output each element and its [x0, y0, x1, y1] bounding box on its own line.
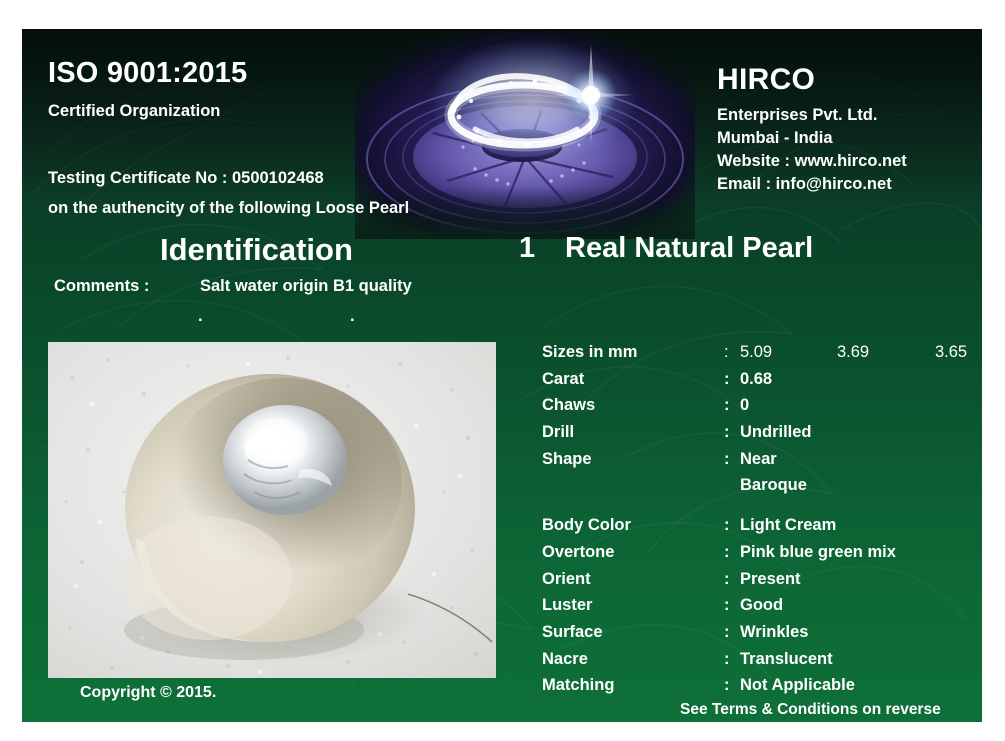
property-label: Orient	[542, 570, 591, 589]
table-row: Orient : Present	[542, 570, 972, 597]
table-row: Chaws : 0	[542, 396, 972, 423]
property-colon: :	[724, 570, 730, 589]
authenticity-statement: on the authencity of the following Loose…	[48, 199, 409, 218]
comments-label: Comments :	[54, 277, 149, 296]
certificate-card: ISO 9001:2015 Certified Organization Tes…	[22, 29, 982, 722]
table-row: Nacre : Translucent	[542, 650, 972, 677]
company-website[interactable]: Website : www.hirco.net	[717, 152, 907, 171]
property-value: Undrilled	[740, 423, 812, 442]
company-email[interactable]: Email : info@hirco.net	[717, 175, 892, 194]
property-label: Shape	[542, 450, 592, 469]
comments-marker-1: .	[198, 307, 203, 326]
property-value: Not Applicable	[740, 676, 855, 695]
property-colon: :	[724, 396, 730, 415]
property-colon: :	[724, 450, 730, 469]
table-row: Body Color : Light Cream	[542, 516, 972, 543]
property-value-continued: Baroque	[740, 476, 807, 495]
copyright-notice: Copyright © 2015.	[80, 684, 216, 702]
property-colon: :	[724, 516, 730, 535]
comments-value: Salt water origin B1 quality	[200, 277, 412, 296]
table-row: Sizes in mm : 5.09 3.69 3.65	[542, 343, 972, 370]
property-colon: :	[724, 650, 730, 669]
pearl-specimen-photo	[48, 342, 496, 678]
certificate-page: ISO 9001:2015 Certified Organization Tes…	[0, 0, 1005, 741]
property-label: Body Color	[542, 516, 631, 535]
table-row: Overtone : Pink blue green mix	[542, 543, 972, 570]
item-number: 1	[519, 232, 535, 265]
identification-heading: Identification	[160, 232, 353, 268]
property-value: Present	[740, 570, 801, 589]
certificate-number: Testing Certificate No : 0500102468	[48, 169, 324, 188]
table-row: Matching : Not Applicable	[542, 676, 972, 703]
property-value: 0	[740, 396, 749, 415]
property-value: Good	[740, 596, 783, 615]
table-row: Shape : Near Baroque	[542, 450, 972, 504]
property-colon: :	[724, 596, 730, 615]
table-row: Luster : Good	[542, 596, 972, 623]
property-value: Near	[740, 450, 777, 469]
property-label: Nacre	[542, 650, 588, 669]
property-value: Wrinkles	[740, 623, 808, 642]
comments-marker-2: .	[350, 307, 355, 326]
pearl-properties-table: Sizes in mm : 5.09 3.69 3.65 Carat : 0.6…	[542, 343, 972, 703]
property-label: Overtone	[542, 543, 614, 562]
property-label: Carat	[542, 370, 584, 389]
property-value: 5.09	[740, 343, 772, 362]
property-label: Drill	[542, 423, 574, 442]
property-colon: :	[724, 370, 730, 389]
property-label: Sizes in mm	[542, 343, 637, 362]
certified-organization-label: Certified Organization	[48, 102, 220, 121]
property-value: 0.68	[740, 370, 772, 389]
property-colon: :	[724, 343, 729, 362]
property-label: Luster	[542, 596, 592, 615]
company-name: HIRCO	[717, 63, 815, 97]
property-value: Translucent	[740, 650, 833, 669]
property-value: Pink blue green mix	[740, 543, 896, 562]
company-legal-suffix: Enterprises Pvt. Ltd.	[717, 106, 877, 125]
property-colon: :	[724, 623, 730, 642]
item-name: Real Natural Pearl	[565, 232, 813, 265]
table-spacer	[542, 503, 972, 516]
property-value-2: 3.69	[837, 343, 869, 362]
property-colon: :	[724, 423, 730, 442]
property-colon: :	[724, 676, 730, 695]
property-label: Surface	[542, 623, 603, 642]
property-label: Matching	[542, 676, 614, 695]
table-row: Surface : Wrinkles	[542, 623, 972, 650]
company-location: Mumbai - India	[717, 129, 833, 148]
property-value: Light Cream	[740, 516, 836, 535]
terms-conditions-note: See Terms & Conditions on reverse	[680, 701, 941, 719]
iso-standard-title: ISO 9001:2015	[48, 57, 247, 90]
table-row: Drill : Undrilled	[542, 423, 972, 450]
table-row: Carat : 0.68	[542, 370, 972, 397]
property-label: Chaws	[542, 396, 595, 415]
property-value-3: 3.65	[935, 343, 967, 362]
property-colon: :	[724, 543, 730, 562]
